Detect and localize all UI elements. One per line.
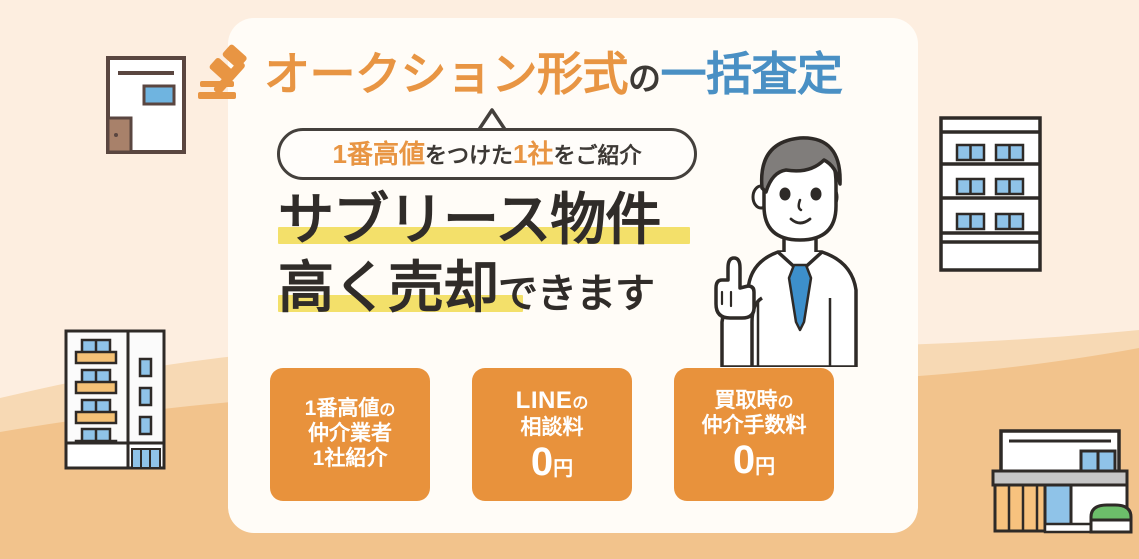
- badge-fee-free-line1: 買取時の: [714, 389, 793, 414]
- storefront-illustration: [985, 425, 1133, 545]
- badge-fee-free-yen: 円: [755, 456, 775, 478]
- badge-line-free-price: 0円: [531, 442, 573, 482]
- title-text-group: オークション形式の一括査定: [264, 51, 843, 97]
- title-part-auction: オークション形式: [264, 48, 628, 100]
- headline-can-do: できます: [498, 272, 654, 316]
- badge-line-free-line1: LINEの: [516, 387, 589, 415]
- badge-top-agent-line1-suffix: の: [379, 402, 395, 419]
- badge-top-agent-line3: 1社紹介: [313, 447, 388, 472]
- bubble-seg-introduce: をご紹介: [553, 143, 641, 168]
- badge-fee-free[interactable]: 買取時の 仲介手数料 0円: [674, 368, 834, 501]
- headline-line-2: 高く売却できます: [278, 260, 660, 316]
- badge-top-agent-line1: 1番高値の: [305, 397, 396, 422]
- title-part-assessment: 一括査定: [661, 48, 843, 100]
- badge-line-free[interactable]: LINEの 相談料 0円: [472, 368, 632, 501]
- title-particle: の: [628, 60, 661, 97]
- badge-line-free-line2: 相談料: [521, 416, 584, 441]
- badge-top-agent[interactable]: 1番高値の 仲介業者 1社紹介: [270, 368, 430, 501]
- headline-sublease-property: サブリース物件: [278, 188, 660, 251]
- headline-line-1: サブリース物件: [278, 192, 660, 248]
- highlight-bubble: 1番高値をつけた1社をご紹介: [277, 128, 697, 180]
- badge-line-free-yen: 円: [553, 458, 573, 480]
- house-facade-icon: [105, 55, 187, 155]
- badge-top-agent-line1-main: 1番高値: [305, 397, 380, 420]
- badge-top-agent-line2: 仲介業者: [308, 422, 392, 447]
- bubble-seg-top-price: 1番高値: [333, 139, 425, 169]
- badge-fee-free-zero: 0: [733, 438, 755, 482]
- bubble-text-group: 1番高値をつけた1社をご紹介: [333, 141, 642, 167]
- badge-line-free-zero: 0: [531, 440, 553, 484]
- bubble-seg-one-company: 1社: [513, 139, 553, 169]
- three-floor-building-illustration: [938, 115, 1043, 273]
- badge-line-free-brand: LINE: [516, 387, 573, 414]
- badge-fee-free-line1-main: 買取時: [714, 389, 777, 412]
- headline-sell-high: 高く売却: [278, 256, 498, 319]
- feature-badges: 1番高値の 仲介業者 1社紹介 LINEの 相談料 0円 買取時の 仲介手数料 …: [270, 368, 834, 501]
- badge-line-free-line1-suffix: の: [572, 395, 588, 412]
- businessman-pointing-up-illustration: [700, 122, 900, 367]
- badge-fee-free-price: 0円: [733, 440, 775, 480]
- hero-banner: オークション形式の一括査定 1番高値をつけた1社をご紹介 サブリース物件 高く売…: [0, 0, 1139, 559]
- apartment-building-illustration: [62, 325, 168, 471]
- badge-fee-free-line2: 仲介手数料: [702, 414, 807, 439]
- badge-fee-free-line1-suffix: の: [777, 394, 793, 411]
- headline: サブリース物件 高く売却できます: [278, 192, 660, 316]
- banner-title: オークション形式の一括査定: [198, 40, 898, 108]
- bubble-seg-offered: をつけた: [425, 143, 513, 168]
- gavel-icon: [198, 43, 260, 101]
